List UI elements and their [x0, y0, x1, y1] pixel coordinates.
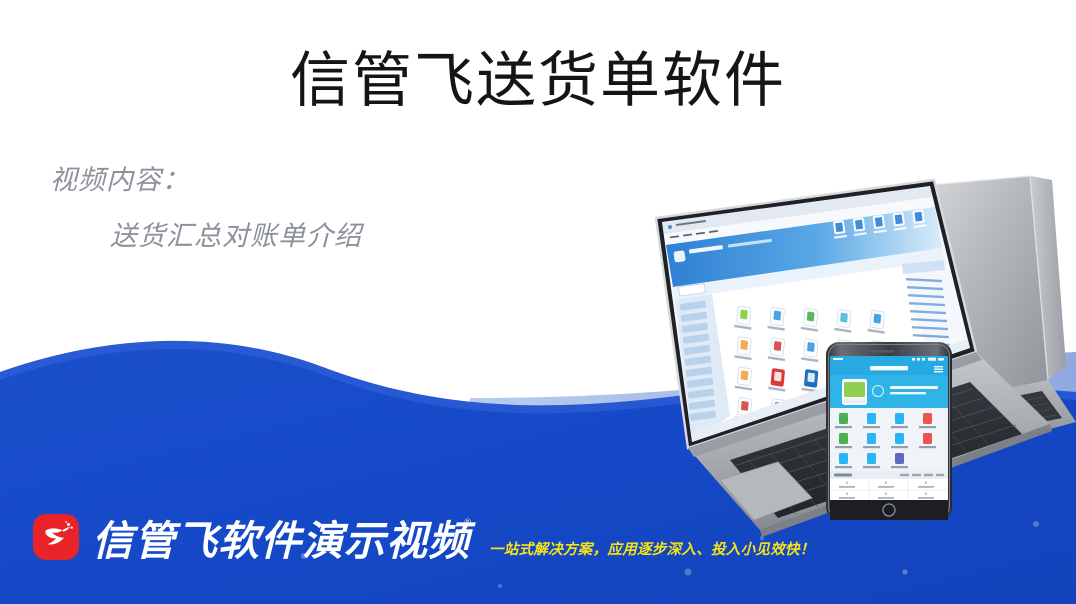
- slide-canvas: 0 0 0 0 0 0: [0, 0, 1076, 604]
- smartphone: 0 0 0 0 0 0: [826, 342, 952, 520]
- registered-mark: ®: [464, 518, 472, 527]
- brand-name: 信管飞软件演示视频 ®: [92, 521, 470, 562]
- bubble: [498, 584, 502, 588]
- video-content-value: 送货汇总对账单介绍: [110, 214, 362, 253]
- bubble: [684, 568, 691, 575]
- device-mockups: 0 0 0 0 0 0: [430, 170, 1076, 540]
- brand-bar: 信管飞软件演示视频 ® 一站式解决方案，应用逐步深入、投入小见效快！: [33, 514, 815, 562]
- page-title: 信管飞送货单软件: [0, 50, 1076, 113]
- xinguanfei-bird-logo: [33, 514, 79, 560]
- video-content-label: 视频内容：: [50, 158, 362, 197]
- brand-tagline: 一站式解决方案，应用逐步深入、投入小见效快！: [489, 543, 815, 558]
- video-content-block: 视频内容： 送货汇总对账单介绍: [50, 158, 362, 253]
- brand-name-text: 信管飞软件演示视频: [92, 518, 470, 564]
- bubble: [902, 569, 907, 574]
